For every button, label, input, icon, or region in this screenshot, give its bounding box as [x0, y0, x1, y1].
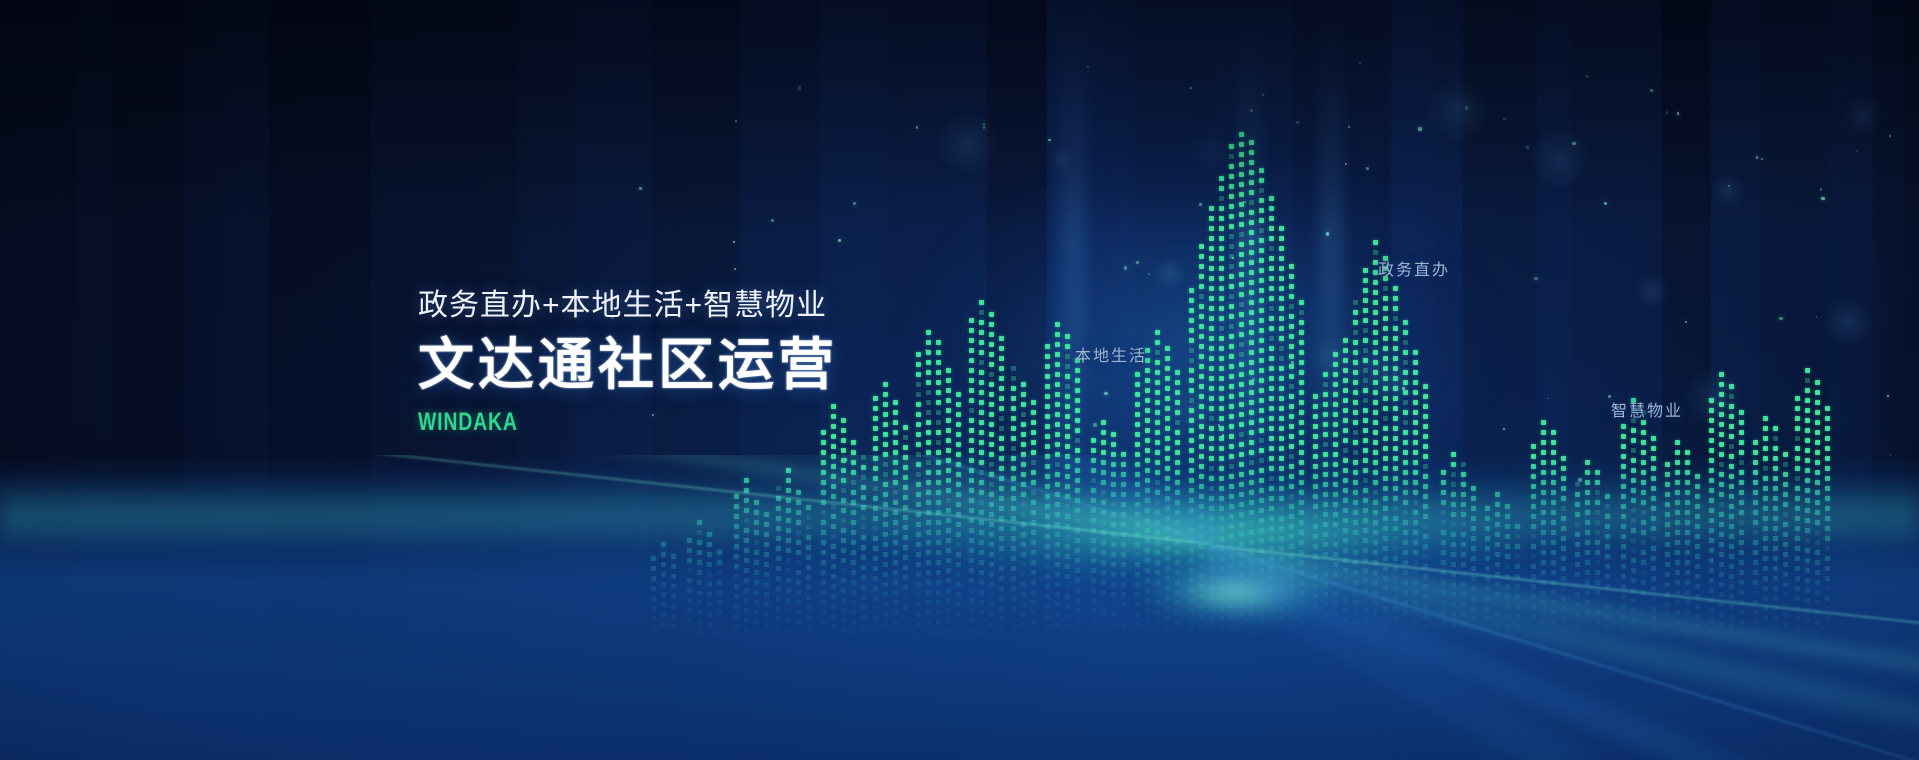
building-dot [1373, 390, 1378, 395]
building-dot [1279, 386, 1284, 391]
building-dot [831, 444, 836, 449]
building-dot [1075, 438, 1080, 443]
building-dot [1199, 424, 1204, 429]
building-dot [1259, 188, 1264, 193]
building-dot [1363, 368, 1368, 373]
building-dot [1209, 416, 1214, 421]
hero-copy: 政务直办+本地生活+智慧物业 文达通社区运营 WINDAKA [418, 288, 1038, 437]
building-dot [1269, 386, 1274, 391]
building-dot [1229, 314, 1234, 319]
building-dot [1209, 236, 1214, 241]
building-dot [1091, 438, 1096, 443]
building-dot [1393, 346, 1398, 351]
building-dot [1709, 438, 1714, 443]
building-dot [1249, 290, 1254, 295]
building-dot [1075, 408, 1080, 413]
building-dot [1269, 286, 1274, 291]
building-dot [1313, 424, 1318, 429]
building-dot [1363, 428, 1368, 433]
building-dot [1189, 438, 1194, 443]
building-dot [1353, 300, 1358, 305]
building-dot [1199, 344, 1204, 349]
building-dot [1383, 356, 1388, 361]
building-dot [1219, 366, 1224, 371]
building-dot [1815, 430, 1820, 435]
building-dot [1279, 336, 1284, 341]
building-dot [1403, 340, 1408, 345]
building-dot [1249, 420, 1254, 425]
building-dot [1239, 282, 1244, 287]
building-dot [1353, 350, 1358, 355]
building-dot [1289, 344, 1294, 349]
building-dot [1353, 380, 1358, 385]
building-dot [1269, 196, 1274, 201]
building-dot [1229, 384, 1234, 389]
building-dot [1709, 428, 1714, 433]
building-dot [1383, 316, 1388, 321]
building-dot [1219, 326, 1224, 331]
building-dot [1541, 430, 1546, 435]
building-dot [1011, 446, 1016, 451]
building-dot [1269, 416, 1274, 421]
building-dot [1289, 434, 1294, 439]
building-dot [1135, 372, 1140, 377]
building-dot [1249, 140, 1254, 145]
building-dot [1383, 426, 1388, 431]
building-dot [1259, 328, 1264, 333]
building-dot [1155, 430, 1160, 435]
building-dot [1323, 372, 1328, 377]
building-dot [1259, 438, 1264, 443]
building-dot [1229, 324, 1234, 329]
building-dot [1675, 440, 1680, 445]
building-dot [1145, 438, 1150, 443]
building-dot [1101, 420, 1106, 425]
building-dot [1805, 438, 1810, 443]
building-dot [1709, 398, 1714, 403]
building-dot [1229, 284, 1234, 289]
building-dot [1413, 380, 1418, 385]
building-dot [1165, 376, 1170, 381]
building-dot [1299, 390, 1304, 395]
building-dot [1815, 400, 1820, 405]
building-dot [1055, 432, 1060, 437]
building-dot [1373, 350, 1378, 355]
building-dot [1289, 404, 1294, 409]
building-dot [1239, 372, 1244, 377]
building-dot [1259, 378, 1264, 383]
building-dot [1239, 162, 1244, 167]
building-dot [1229, 304, 1234, 309]
building-dot [1729, 444, 1734, 449]
building-dot [1279, 256, 1284, 261]
building-dot [1239, 432, 1244, 437]
building-dot [1383, 296, 1388, 301]
building-dot [1259, 228, 1264, 233]
building-dot [1219, 316, 1224, 321]
building-dot [1229, 294, 1234, 299]
building-dot [1065, 394, 1070, 399]
building-dot [1269, 296, 1274, 301]
building-dot [1055, 412, 1060, 417]
building-dot [1343, 368, 1348, 373]
building-dot [1101, 430, 1106, 435]
building-dot [1313, 444, 1318, 449]
building-dot [1343, 428, 1348, 433]
building-dot [1815, 390, 1820, 395]
building-dot [1373, 300, 1378, 305]
building-dot [1209, 446, 1214, 451]
building-dot [1189, 408, 1194, 413]
building-dot [1189, 368, 1194, 373]
building-dot [1363, 308, 1368, 313]
building-dot [1165, 366, 1170, 371]
building-dot [1289, 364, 1294, 369]
hero-kicker: 政务直办+本地生活+智慧物业 [418, 288, 1038, 324]
building-dot [1413, 400, 1418, 405]
building-dot [1065, 404, 1070, 409]
building-dot [1165, 426, 1170, 431]
building-dot [1289, 424, 1294, 429]
building-dot [1239, 362, 1244, 367]
building-dot [1219, 246, 1224, 251]
building-dot [1259, 288, 1264, 293]
building-dot [1279, 356, 1284, 361]
building-dot [1199, 374, 1204, 379]
building-dot [1229, 424, 1234, 429]
building-dot [1795, 396, 1800, 401]
building-dot [1055, 352, 1060, 357]
building-dot [1155, 400, 1160, 405]
building-dot [1199, 444, 1204, 449]
building-dot [1219, 226, 1224, 231]
building-dot [1279, 246, 1284, 251]
building-dot [969, 438, 974, 443]
building-dot [1259, 248, 1264, 253]
building-dot [1269, 426, 1274, 431]
building-dot [1259, 368, 1264, 373]
building-dot [1239, 272, 1244, 277]
building-dot [1423, 384, 1428, 389]
building-dot [1249, 210, 1254, 215]
perspective-floor [0, 455, 1919, 760]
building-dot [1209, 356, 1214, 361]
building-dot [1413, 370, 1418, 375]
building-dot [1383, 446, 1388, 451]
building-dot [1383, 436, 1388, 441]
building-dot [1145, 408, 1150, 413]
building-dot [1815, 410, 1820, 415]
building-dot [1825, 446, 1830, 451]
ground-haze [0, 479, 1919, 549]
building-dot [1541, 440, 1546, 445]
building-dot [1353, 340, 1358, 345]
building-dot [1269, 406, 1274, 411]
building-dot [1045, 424, 1050, 429]
building-dot [1135, 392, 1140, 397]
building-dot [1199, 394, 1204, 399]
building-dot [883, 442, 888, 447]
building-dot [946, 448, 951, 453]
building-dot [841, 438, 846, 443]
building-dot [1135, 402, 1140, 407]
building-dot [1055, 322, 1060, 327]
building-dot [1363, 278, 1368, 283]
building-dot [1413, 440, 1418, 445]
building-dot [1373, 420, 1378, 425]
building-dot [1551, 430, 1556, 435]
building-dot [1279, 426, 1284, 431]
building-dot [1219, 426, 1224, 431]
building-dot [821, 440, 826, 445]
building-dot [1363, 378, 1368, 383]
building-dot [1229, 264, 1234, 269]
building-dot [1259, 278, 1264, 283]
building-dot [1729, 414, 1734, 419]
building-dot [1373, 440, 1378, 445]
building-dot [1031, 440, 1036, 445]
building-dot [1269, 256, 1274, 261]
building-dot [1269, 336, 1274, 341]
building-dot [1189, 378, 1194, 383]
building-dot [1249, 410, 1254, 415]
building-dot [1651, 446, 1656, 451]
building-dot [1393, 446, 1398, 451]
building-dot [1815, 380, 1820, 385]
building-dot [1209, 336, 1214, 341]
building-dot [1403, 440, 1408, 445]
building-dot [1209, 436, 1214, 441]
building-dot [1279, 406, 1284, 411]
building-dot [1269, 206, 1274, 211]
building-dot [1825, 426, 1830, 431]
building-dot [1279, 286, 1284, 291]
building-dot [1289, 394, 1294, 399]
building-dot [1065, 414, 1070, 419]
building-dot [1729, 384, 1734, 389]
building-dot [1805, 448, 1810, 453]
building-dot [1729, 424, 1734, 429]
building-dot [1209, 346, 1214, 351]
building-dot [1353, 310, 1358, 315]
building-dot [1269, 316, 1274, 321]
building-dot [1719, 412, 1724, 417]
building-dot [1219, 376, 1224, 381]
building-dot [1249, 340, 1254, 345]
building-dot [1155, 390, 1160, 395]
building-dot [1299, 320, 1304, 325]
building-dot [1045, 434, 1050, 439]
building-dot [1631, 448, 1636, 453]
building-dot [1383, 386, 1388, 391]
building-dot [1229, 444, 1234, 449]
building-dot [1289, 264, 1294, 269]
building-dot [1363, 338, 1368, 343]
building-dot [1393, 436, 1398, 441]
building-dot [1289, 354, 1294, 359]
building-dot [1269, 446, 1274, 451]
building-dot [1413, 360, 1418, 365]
building-dot [946, 438, 951, 443]
building-dot [1383, 306, 1388, 311]
building-dot [1135, 382, 1140, 387]
building-dot [1199, 264, 1204, 269]
building-dot [1269, 366, 1274, 371]
building-dot [1259, 178, 1264, 183]
building-dot [1209, 256, 1214, 261]
building-dot [1209, 406, 1214, 411]
building-dot [1531, 444, 1536, 449]
building-dot [1239, 412, 1244, 417]
building-dot [1541, 420, 1546, 425]
building-dot [1189, 328, 1194, 333]
building-dot [1269, 376, 1274, 381]
building-dot [1289, 294, 1294, 299]
building-dot [1075, 368, 1080, 373]
building-dot [1279, 316, 1284, 321]
building-dot [1055, 342, 1060, 347]
building-dot [1403, 360, 1408, 365]
building-dot [1249, 380, 1254, 385]
building-dot [1229, 334, 1234, 339]
building-dot [1393, 396, 1398, 401]
building-dot [1373, 240, 1378, 245]
building-dot [1719, 432, 1724, 437]
building-dot [1343, 348, 1348, 353]
building-dot [1343, 438, 1348, 443]
building-dot [1413, 420, 1418, 425]
building-dot [1323, 442, 1328, 447]
building-dot [1065, 364, 1070, 369]
building-dot [1323, 422, 1328, 427]
building-dot [1299, 350, 1304, 355]
building-dot [1631, 428, 1636, 433]
building-dot [1739, 440, 1744, 445]
building-dot [1423, 404, 1428, 409]
building-dot [1333, 392, 1338, 397]
building-dot [1045, 344, 1050, 349]
building-dot [1333, 402, 1338, 407]
building-dot [1199, 434, 1204, 439]
building-dot [1269, 396, 1274, 401]
building-dot [1343, 358, 1348, 363]
building-dot [1423, 444, 1428, 449]
building-dot [1413, 430, 1418, 435]
building-dot [1165, 436, 1170, 441]
building-dot [1111, 442, 1116, 447]
building-dot [1763, 446, 1768, 451]
building-dot [1219, 356, 1224, 361]
building-dot [1299, 440, 1304, 445]
building-dot [1289, 304, 1294, 309]
building-dot [1219, 206, 1224, 211]
building-dot [1373, 250, 1378, 255]
building-dot [1199, 334, 1204, 339]
building-dot [1393, 306, 1398, 311]
building-dot [1333, 352, 1338, 357]
building-dot [1055, 332, 1060, 337]
building-dot [1383, 406, 1388, 411]
building-dot [956, 442, 961, 447]
building-dot [1199, 294, 1204, 299]
building-dot [1045, 404, 1050, 409]
building-dot [1145, 388, 1150, 393]
building-dot [1763, 436, 1768, 441]
building-dot [1373, 400, 1378, 405]
building-dot [1239, 222, 1244, 227]
building-dot [1111, 432, 1116, 437]
building-dot [1219, 296, 1224, 301]
building-dot [1739, 420, 1744, 425]
building-dot [1229, 374, 1234, 379]
skyline-label-gov-service: 政务直办 [1378, 256, 1450, 280]
building-dot [1403, 350, 1408, 355]
building-dot [1393, 386, 1398, 391]
building-dot [1299, 400, 1304, 405]
building-dot [1209, 326, 1214, 331]
building-dot [873, 436, 878, 441]
building-dot [1209, 306, 1214, 311]
building-dot [1175, 400, 1180, 405]
building-dot [1209, 366, 1214, 371]
building-dot [1333, 382, 1338, 387]
building-dot [1323, 382, 1328, 387]
building-dot [1333, 412, 1338, 417]
building-dot [1229, 354, 1234, 359]
building-dot [1249, 300, 1254, 305]
building-dot [1805, 398, 1810, 403]
building-dot [1229, 434, 1234, 439]
building-dot [1199, 284, 1204, 289]
building-dot [1239, 352, 1244, 357]
building-dot [1631, 438, 1636, 443]
building-dot [873, 446, 878, 451]
building-dot [1249, 310, 1254, 315]
building-dot [1795, 406, 1800, 411]
building-dot [1719, 382, 1724, 387]
building-dot [1175, 420, 1180, 425]
building-dot [1145, 368, 1150, 373]
building-dot [1189, 318, 1194, 323]
building-dot [1145, 378, 1150, 383]
building-dot [1323, 432, 1328, 437]
building-dot [1055, 372, 1060, 377]
building-dot [1383, 326, 1388, 331]
building-dot [1229, 204, 1234, 209]
building-dot [1249, 200, 1254, 205]
building-dot [1299, 330, 1304, 335]
building-dot [1393, 286, 1398, 291]
building-dot [1045, 394, 1050, 399]
building-dot [1155, 350, 1160, 355]
building-dot [1423, 424, 1428, 429]
brand-wordmark: WINDAKA [418, 408, 902, 437]
building-dot [1199, 364, 1204, 369]
building-dot [1795, 416, 1800, 421]
building-dot [1239, 442, 1244, 447]
building-dot [1383, 336, 1388, 341]
building-dot [1313, 404, 1318, 409]
building-dot [1795, 426, 1800, 431]
building-dot [1155, 370, 1160, 375]
building-dot [1165, 346, 1170, 351]
building-dot [1135, 442, 1140, 447]
building-dot [1155, 420, 1160, 425]
building-dot [1209, 386, 1214, 391]
building-dot [1313, 414, 1318, 419]
building-dot [1199, 244, 1204, 249]
building-dot [1393, 366, 1398, 371]
